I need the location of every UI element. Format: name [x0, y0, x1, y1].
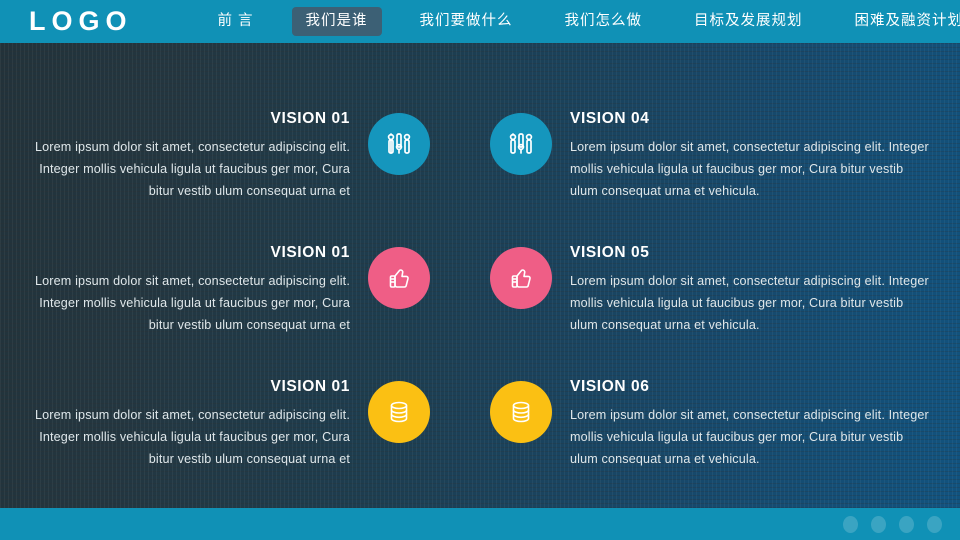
vision-title: VISION 05: [570, 245, 930, 261]
vision-title: VISION 06: [570, 379, 930, 395]
thumbs-up-icon[interactable]: [368, 247, 430, 309]
top-navigation-bar: LOGO 前 言 我们是谁 我们要做什么 我们怎么做 目标及发展规划 困难及融资…: [0, 0, 960, 43]
pagination-dot[interactable]: [871, 516, 886, 533]
vision-card-04-right: VISION 04 Lorem ipsum dolor sit amet, co…: [480, 111, 960, 223]
pagination-dot[interactable]: [899, 516, 914, 533]
slide-canvas: LOGO 前 言 我们是谁 我们要做什么 我们怎么做 目标及发展规划 困难及融资…: [0, 0, 960, 540]
vision-body: Lorem ipsum dolor sit amet, consectetur …: [24, 136, 350, 202]
logo: LOGO: [29, 8, 133, 35]
database-icon[interactable]: [368, 381, 430, 443]
pagination-dot[interactable]: [927, 516, 942, 533]
vision-icon-container: [490, 245, 552, 357]
pagination-dot[interactable]: [843, 516, 858, 533]
database-icon[interactable]: [490, 381, 552, 443]
vision-icon-container: [490, 111, 552, 223]
nav-item-goals-and-plan[interactable]: 目标及发展规划: [680, 7, 817, 36]
vision-row: VISION 01 Lorem ipsum dolor sit amet, co…: [0, 245, 960, 357]
sliders-icon[interactable]: [490, 113, 552, 175]
footer-bar: [0, 508, 960, 540]
vision-title: VISION 01: [24, 379, 350, 395]
sliders-icon[interactable]: [368, 113, 430, 175]
nav-item-who-we-are[interactable]: 我们是谁: [292, 7, 382, 36]
vision-row: VISION 01 Lorem ipsum dolor sit amet, co…: [0, 379, 960, 491]
nav-item-challenges-and-financing[interactable]: 困难及融资计划: [841, 7, 960, 36]
vision-icon-container: [368, 379, 430, 491]
vision-icon-container: [368, 245, 430, 357]
nav-item-what-we-do[interactable]: 我们要做什么: [406, 7, 527, 36]
vision-text-block: VISION 01 Lorem ipsum dolor sit amet, co…: [24, 111, 350, 223]
vision-body: Lorem ipsum dolor sit amet, consectetur …: [570, 136, 930, 202]
vision-body: Lorem ipsum dolor sit amet, consectetur …: [570, 270, 930, 336]
nav-menu: 前 言 我们是谁 我们要做什么 我们怎么做 目标及发展规划 困难及融资计划: [192, 0, 960, 43]
vision-title: VISION 04: [570, 111, 930, 127]
vision-body: Lorem ipsum dolor sit amet, consectetur …: [24, 404, 350, 470]
thumbs-up-icon[interactable]: [490, 247, 552, 309]
vision-text-block: VISION 01 Lorem ipsum dolor sit amet, co…: [24, 245, 350, 357]
nav-item-how-we-do[interactable]: 我们怎么做: [551, 7, 657, 36]
vision-card-01-left: VISION 01 Lorem ipsum dolor sit amet, co…: [0, 111, 480, 223]
vision-icon-container: [490, 379, 552, 491]
nav-item-preface[interactable]: 前 言: [204, 7, 268, 36]
vision-card-01b-left: VISION 01 Lorem ipsum dolor sit amet, co…: [0, 245, 480, 357]
vision-icon-container: [368, 111, 430, 223]
vision-text-block: VISION 01 Lorem ipsum dolor sit amet, co…: [24, 379, 350, 491]
vision-text-block: VISION 04 Lorem ipsum dolor sit amet, co…: [570, 111, 930, 223]
vision-card-06-right: VISION 06 Lorem ipsum dolor sit amet, co…: [480, 379, 960, 491]
vision-grid: VISION 01 Lorem ipsum dolor sit amet, co…: [0, 43, 960, 500]
vision-card-05-right: VISION 05 Lorem ipsum dolor sit amet, co…: [480, 245, 960, 357]
vision-text-block: VISION 06 Lorem ipsum dolor sit amet, co…: [570, 379, 930, 491]
vision-body: Lorem ipsum dolor sit amet, consectetur …: [570, 404, 930, 470]
vision-text-block: VISION 05 Lorem ipsum dolor sit amet, co…: [570, 245, 930, 357]
vision-title: VISION 01: [24, 111, 350, 127]
vision-row: VISION 01 Lorem ipsum dolor sit amet, co…: [0, 111, 960, 223]
slide-pagination-dots: [830, 516, 942, 533]
vision-title: VISION 01: [24, 245, 350, 261]
vision-card-01c-left: VISION 01 Lorem ipsum dolor sit amet, co…: [0, 379, 480, 491]
vision-body: Lorem ipsum dolor sit amet, consectetur …: [24, 270, 350, 336]
